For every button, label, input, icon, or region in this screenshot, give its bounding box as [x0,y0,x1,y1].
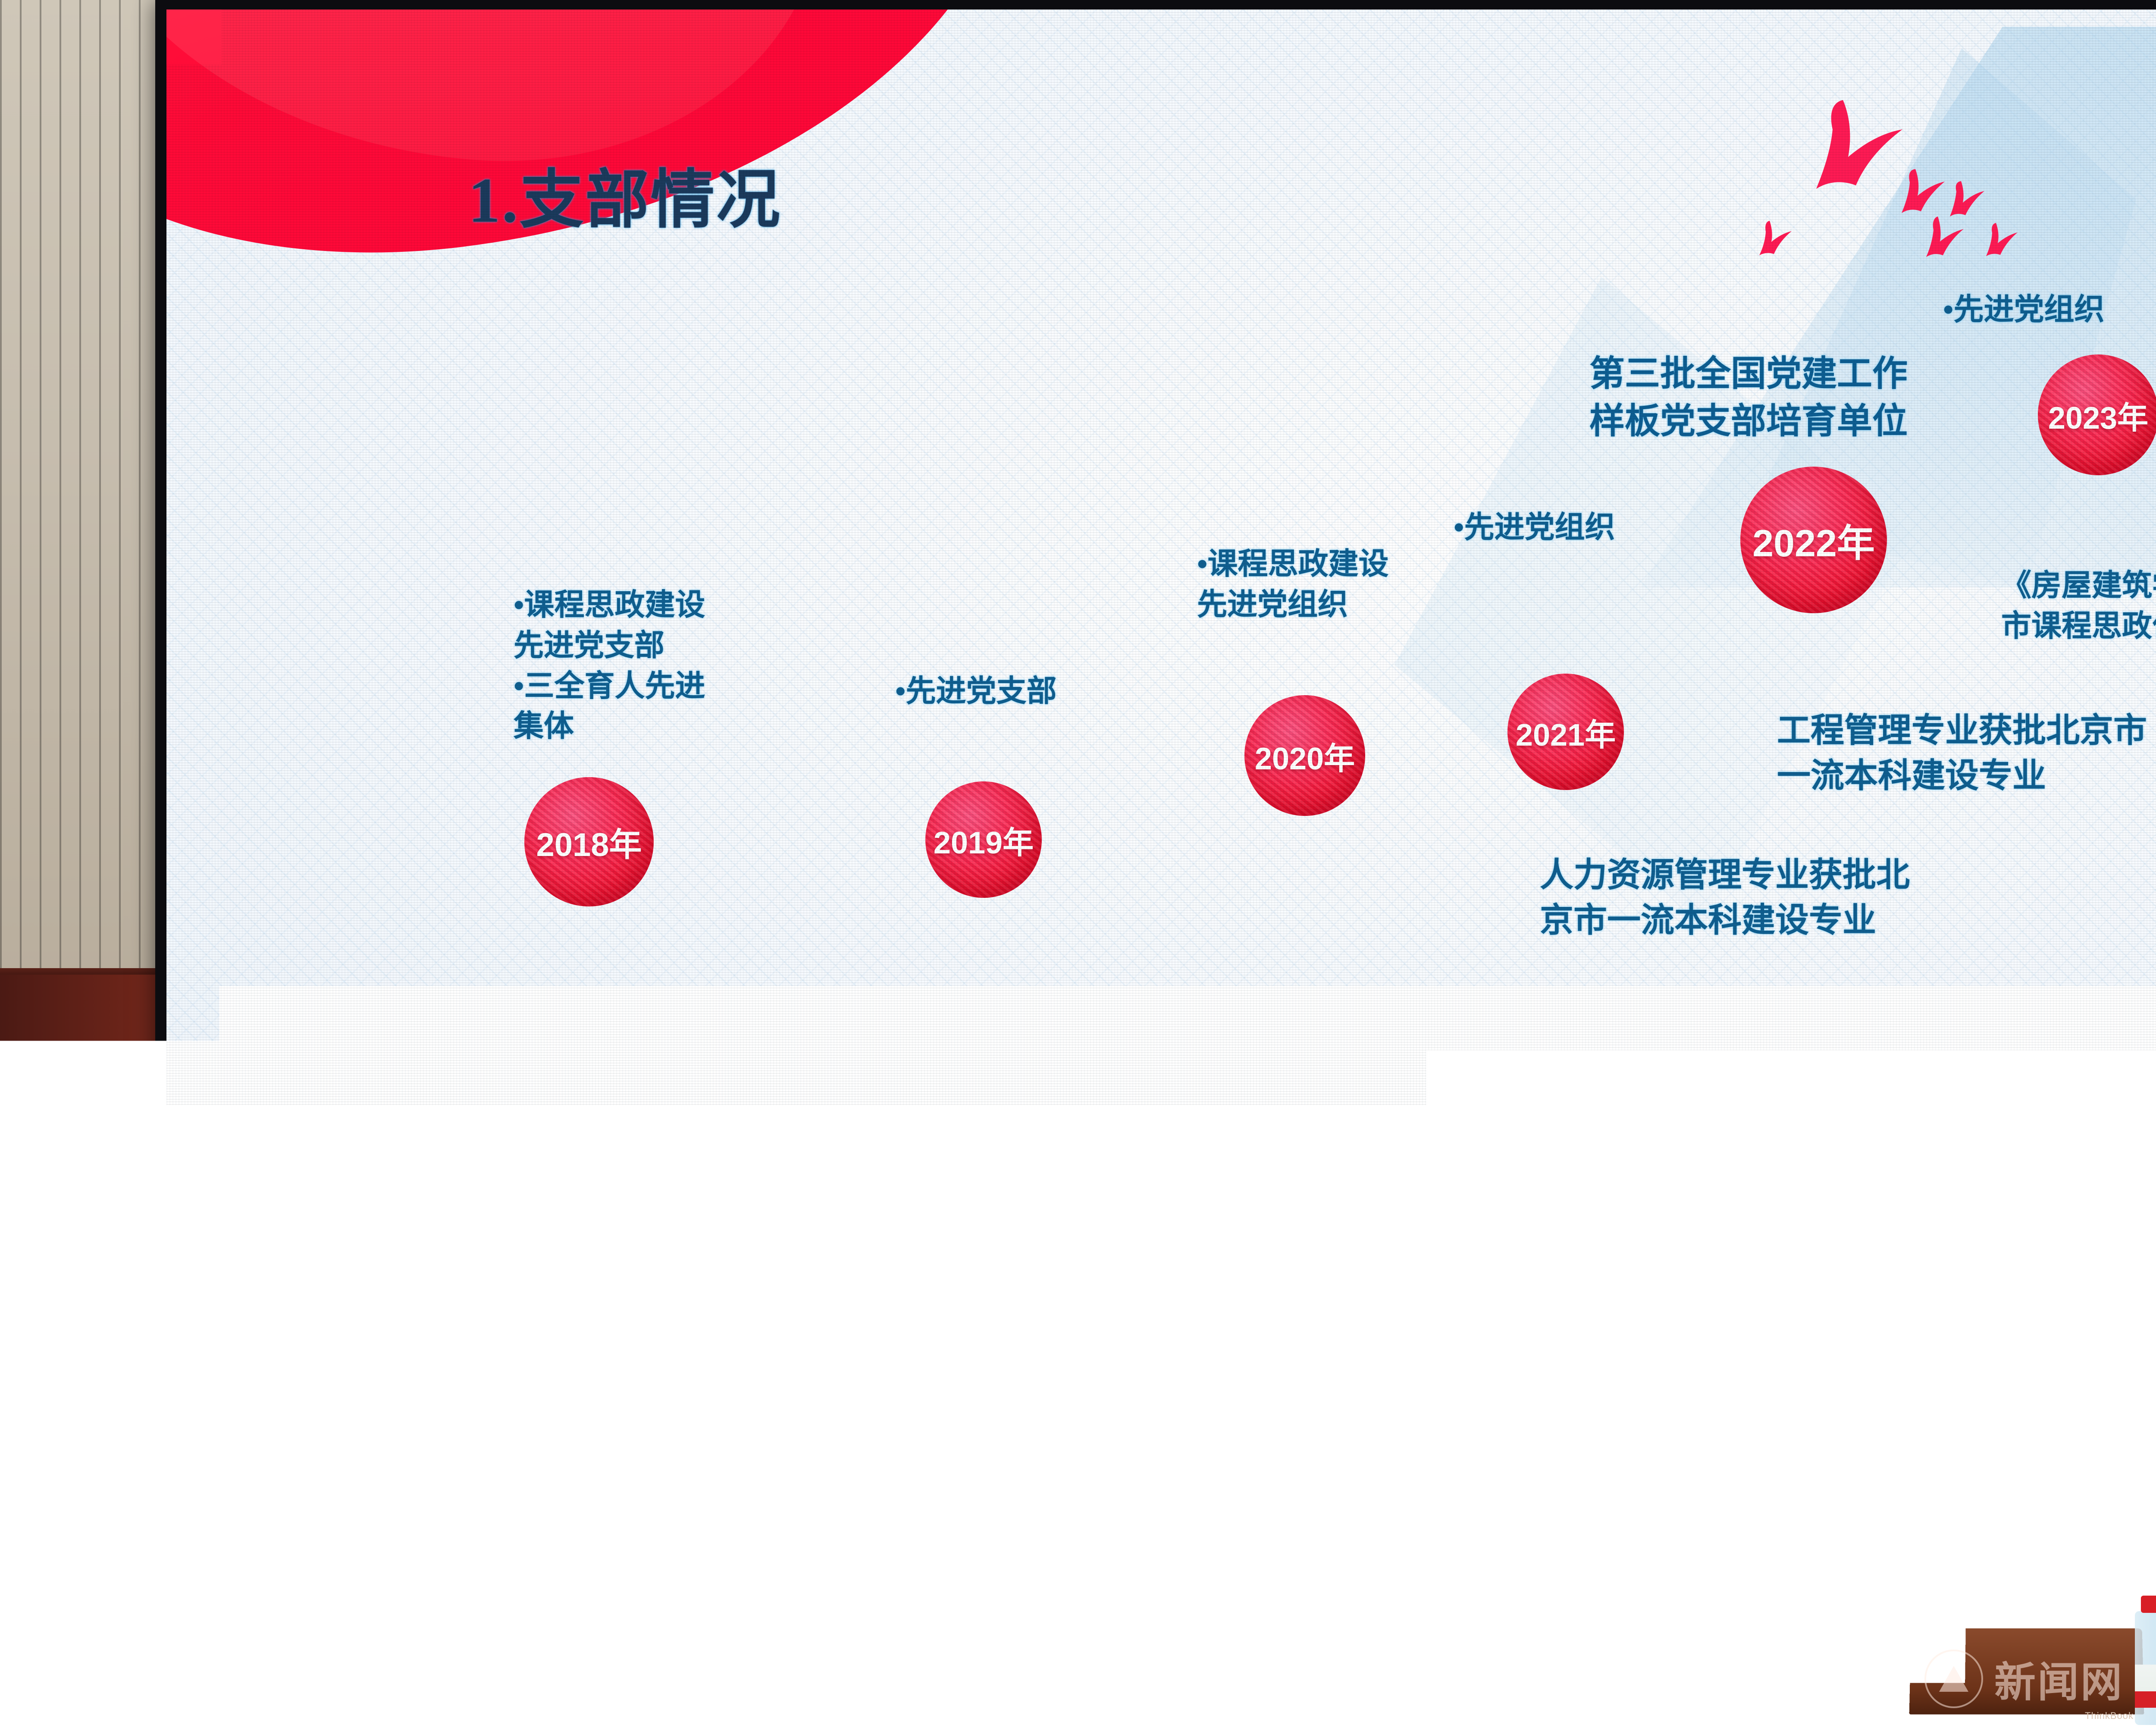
party-badge-pin [1812,1647,1825,1665]
slide-title: 1.支部情况 [468,147,782,240]
presentation-slide: 1.支部情况 •课程思政建设先进党支部•三全育人先进集体 •先进党支部 •课程思… [166,9,2156,1423]
presenter-face [1736,1463,1831,1578]
certificate-photo-1: ☭ 生物化学工程学院工程管理系教工党支部 “课程思政”建设先进党组织 中共北京联… [507,1044,800,1295]
callout-2022-heading: 第三批全国党建工作样板党支部培育单位 [1589,350,1999,445]
auditorium-room: 1.支部情况 •课程思政建设先进党支部•三全育人先进集体 •先进党支部 •课程思… [0,0,2156,1728]
bottle-cap [2141,1596,2156,1613]
certificate-1-moire [513,1051,794,1289]
led-screen-bezel: 1.支部情况 •课程思政建设先进党支部•三全育人先进集体 •先进党支部 •课程思… [155,0,2156,1436]
watermark-text: 新闻网 [1994,1649,2124,1709]
water-bottle [2132,1596,2156,1725]
year-bubble-2022[interactable]: 2022年 [1740,467,1887,613]
callout-2023-label: •先进党组织 [1943,290,2156,330]
laser-pointer-button[interactable]: ◎ [357,1365,390,1398]
callout-2021-body: 人力资源管理专业获批北京市一流本科建设专业 [1540,853,1971,943]
pen-tool-button[interactable]: ✐ [304,1365,336,1398]
led-screen: 1.支部情况 •课程思政建设先进党支部•三全育人先进集体 •先进党支部 •课程思… [166,9,2156,1423]
year-bubble-2018[interactable]: 2018年 [524,777,654,906]
bottle-label-red-band [2135,1691,2156,1708]
wooden-podium [556,1591,1035,1728]
university-seal-icon [1924,1650,1983,1708]
callout-2023-body: 《房屋建筑学》获评北京市课程思政优秀教学团队 [2001,566,2156,647]
year-bubble-2020[interactable]: 2020年 [1244,695,1365,816]
callout-2021-label: •先进党组织 [1454,508,1678,548]
year-bubble-2023[interactable]: 2023年 [2038,354,2156,475]
callout-2019: •先进党支部 [895,671,1119,712]
podium-stem [655,1697,931,1728]
callout-2020: •课程思政建设先进党组织 [1197,544,1438,625]
callout-2018: •课程思政建设先进党支部•三全育人先进集体 [514,585,781,747]
presenter-person [1651,1436,1919,1728]
flying-birds-icon [1714,78,2041,264]
certificate-photo-2: ☭ 生物化学工程学院资源管理系教工党支部 2021-2023年度先进基层党组织 … [830,1042,1115,1288]
achievements-bullet-list: •2名青年教师晋升副教授•引进5名青年博士教师•支部党员获批国社科基金项目、教育… [1527,1027,2156,1207]
podium-body [568,1602,1023,1677]
certificate-2-moire [837,1048,1109,1282]
podium-top [556,1591,1035,1603]
previous-slide-button[interactable]: ◁ [197,1365,229,1398]
laptop-brand-label: ThinkBook [2085,1710,2134,1722]
zoom-button[interactable]: ⌕ [517,1365,550,1398]
certificate-3-moire [1160,1044,1428,1273]
certificate-photo-3: 生物化学工程学院资源管理系 荣获2023年毕业生就业工作 先进集体 北京联合大学… [1154,1038,1434,1280]
presenter-floral-blouse [1677,1564,1892,1728]
news-site-watermark: 新闻网 [1924,1649,2124,1709]
all-slides-button[interactable]: ▦ [411,1365,443,1398]
seal-mountain-shape [1939,1666,1968,1692]
next-slide-button[interactable]: ▷ [250,1365,283,1398]
powerpoint-presenter-toolbar[interactable]: ◁ ▷ ✐ ◎ ▦ ⋯ ⌕ [197,1365,550,1398]
more-options-button[interactable]: ⋯ [464,1365,497,1398]
year-bubble-2019[interactable]: 2019年 [925,781,1042,898]
year-bubble-2021[interactable]: 2021年 [1507,674,1624,790]
callout-2022-body: 工程管理专业获批北京市一流本科建设专业 [1777,708,2156,798]
lower-wall-shadow-left [0,975,181,1728]
podium-ledge [556,1673,1035,1697]
